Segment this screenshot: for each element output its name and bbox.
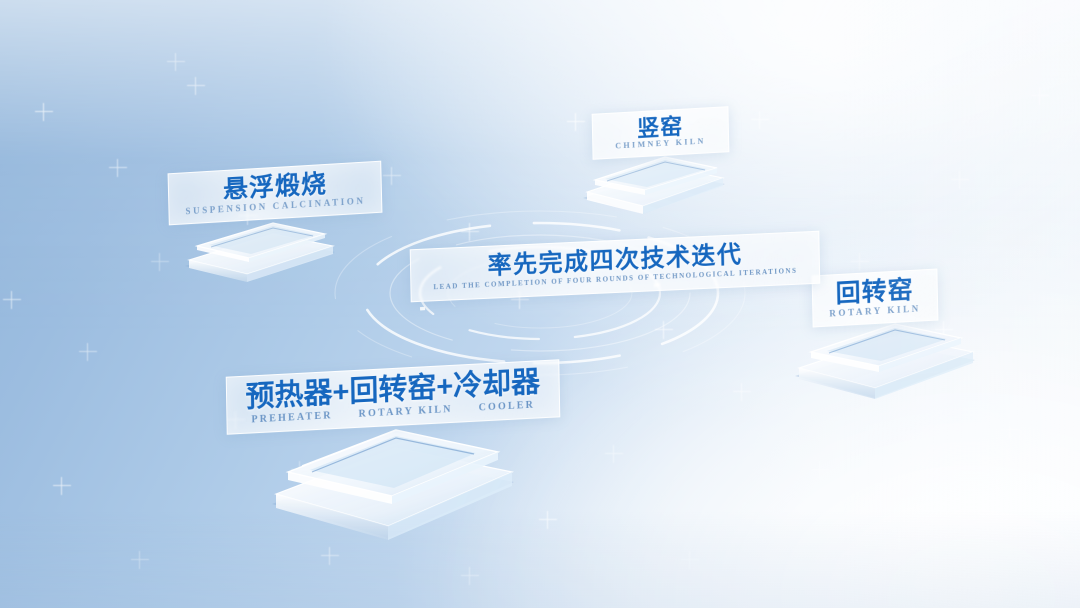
node-label-chimney[interactable]: 竖窑 CHIMNEY KILN <box>592 106 729 160</box>
floor-tile <box>80 33 373 113</box>
floor-tile <box>209 0 529 39</box>
floor-tile <box>149 0 432 1</box>
node-label-rotary[interactable]: 回转窑 ROTARY KILN <box>812 268 938 327</box>
floor-tile <box>645 0 937 23</box>
floor-tile <box>8 0 328 5</box>
scene-stage: 悬浮煅烧 SUSPENSION CALCINATION 竖窑 CHIMNEY K… <box>0 0 1080 608</box>
node-label-preheater-en-3: COOLER <box>478 399 535 413</box>
floor-tile <box>807 13 1062 73</box>
floor-tile <box>8 0 220 5</box>
